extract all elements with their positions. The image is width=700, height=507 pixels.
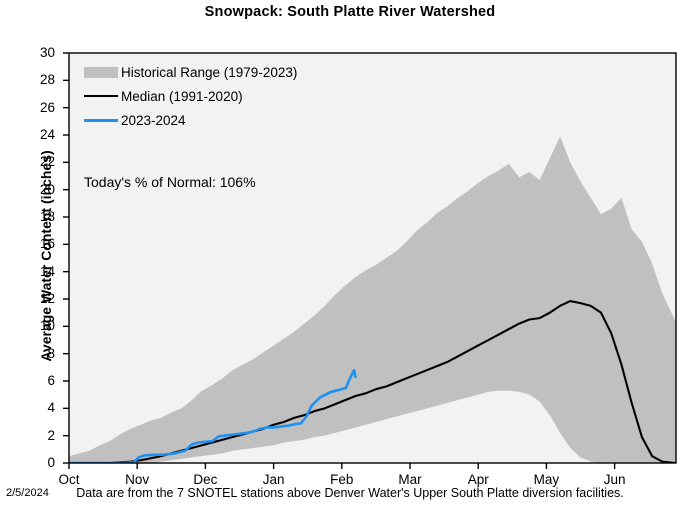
- percent-of-normal-annotation: Today's % of Normal: 106%: [84, 174, 256, 190]
- legend-item-current-season: 2023-2024: [84, 108, 297, 132]
- chart-legend: Historical Range (1979-2023) Median (199…: [84, 60, 297, 132]
- y-tick-label: 8: [21, 347, 55, 361]
- legend-median-swatch: [84, 95, 118, 97]
- y-tick-label: 10: [21, 319, 55, 333]
- chart-root: Snowpack: South Platte River Watershed A…: [0, 0, 700, 507]
- x-tick-label: Mar: [382, 473, 438, 487]
- y-tick-label: 2: [21, 429, 55, 443]
- legend-current-swatch: [84, 119, 118, 122]
- x-tick-label: Nov: [109, 473, 165, 487]
- x-tick-label: Oct: [41, 473, 97, 487]
- y-tick-label: 20: [21, 183, 55, 197]
- y-tick-label: 18: [21, 210, 55, 224]
- y-tick-label: 4: [21, 401, 55, 415]
- legend-label-median: Median (1991-2020): [121, 89, 243, 104]
- y-tick-label: 16: [21, 237, 55, 251]
- y-tick-label: 28: [21, 73, 55, 87]
- legend-band-swatch: [84, 67, 118, 78]
- y-tick-label: 14: [21, 265, 55, 279]
- legend-item-historical-range: Historical Range (1979-2023): [84, 60, 297, 84]
- chart-footnote: Data are from the 7 SNOTEL stations abov…: [0, 486, 700, 500]
- y-tick-label: 6: [21, 374, 55, 388]
- x-tick-label: Feb: [314, 473, 370, 487]
- y-tick-label: 24: [21, 128, 55, 142]
- legend-item-median: Median (1991-2020): [84, 84, 297, 108]
- y-tick-label: 26: [21, 101, 55, 115]
- y-tick-label: 12: [21, 292, 55, 306]
- x-tick-label: Apr: [450, 473, 506, 487]
- y-tick-label: 0: [21, 456, 55, 470]
- x-tick-label: Jan: [246, 473, 302, 487]
- y-tick-label: 22: [21, 155, 55, 169]
- legend-label-current-season: 2023-2024: [121, 113, 186, 128]
- x-tick-label: Jun: [587, 473, 643, 487]
- y-tick-label: 30: [21, 46, 55, 60]
- date-stamp: 2/5/2024: [6, 487, 49, 499]
- x-tick-label: May: [518, 473, 574, 487]
- x-tick-label: Dec: [177, 473, 233, 487]
- legend-label-historical-range: Historical Range (1979-2023): [121, 65, 297, 80]
